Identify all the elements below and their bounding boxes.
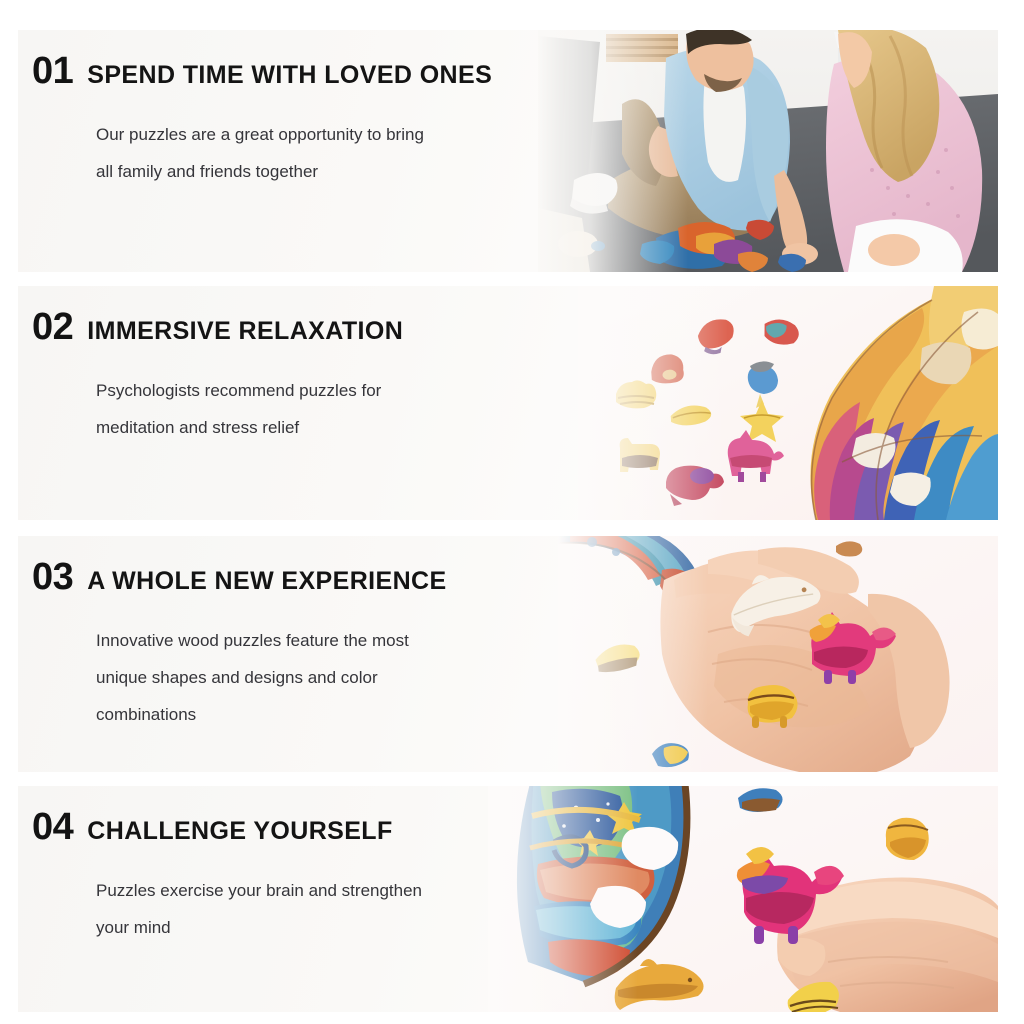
feature-text-01: 01 SPEND TIME WITH LOVED ONES Our puzzle… [18, 30, 592, 190]
feature-heading-row-02: 02 IMMERSIVE RELAXATION [32, 308, 592, 346]
feature-body-line: Psychologists recommend puzzles for [96, 372, 526, 409]
feature-body-line: Our puzzles are a great opportunity to b… [96, 116, 526, 153]
scattered-puzzle-pieces-photo [578, 286, 998, 520]
feature-text-03: 03 A WHOLE NEW EXPERIENCE Innovative woo… [18, 536, 592, 733]
feature-text-04: 04 CHALLENGE YOURSELF Puzzles exercise y… [18, 786, 592, 946]
feature-body-line: unique shapes and designs and color [96, 659, 526, 696]
feature-body-line: Puzzles exercise your brain and strength… [96, 872, 526, 909]
feature-heading-row-03: 03 A WHOLE NEW EXPERIENCE [32, 558, 592, 596]
feature-text-02: 02 IMMERSIVE RELAXATION Psychologists re… [18, 286, 592, 446]
feature-image-03 [558, 536, 998, 772]
feature-panel-02: 02 IMMERSIVE RELAXATION Psychologists re… [18, 286, 998, 520]
feature-heading-row-01: 01 SPEND TIME WITH LOVED ONES [32, 52, 592, 90]
feature-title-01: SPEND TIME WITH LOVED ONES [87, 63, 492, 88]
feature-image-01 [538, 30, 998, 272]
feature-image-02 [578, 286, 998, 520]
feature-panel-04: 04 CHALLENGE YOURSELF Puzzles exercise y… [18, 786, 998, 1012]
feature-number-01: 01 [32, 52, 73, 90]
hand-holding-pieces-photo [558, 536, 998, 772]
feature-body-line: all family and friends together [96, 153, 526, 190]
feature-title-03: A WHOLE NEW EXPERIENCE [87, 569, 446, 594]
feature-heading-row-04: 04 CHALLENGE YOURSELF [32, 808, 592, 846]
feature-body-01: Our puzzles are a great opportunity to b… [96, 116, 526, 190]
promo-feature-list: 01 SPEND TIME WITH LOVED ONES Our puzzle… [0, 0, 1024, 1024]
feature-body-04: Puzzles exercise your brain and strength… [96, 872, 526, 946]
feature-body-line: your mind [96, 909, 526, 946]
feature-title-02: IMMERSIVE RELAXATION [87, 319, 403, 344]
feature-body-line: combinations [96, 696, 526, 733]
family-puzzle-photo [538, 30, 998, 272]
feature-number-03: 03 [32, 558, 73, 596]
feature-panel-01: 01 SPEND TIME WITH LOVED ONES Our puzzle… [18, 30, 998, 272]
feature-body-line: meditation and stress relief [96, 409, 526, 446]
feature-number-02: 02 [32, 308, 73, 346]
feature-title-04: CHALLENGE YOURSELF [87, 819, 392, 844]
feature-body-02: Psychologists recommend puzzles for medi… [96, 372, 526, 446]
feature-body-line: Innovative wood puzzles feature the most [96, 622, 526, 659]
feature-panel-03: 03 A WHOLE NEW EXPERIENCE Innovative woo… [18, 536, 998, 772]
feature-body-03: Innovative wood puzzles feature the most… [96, 622, 526, 733]
feature-number-04: 04 [32, 808, 73, 846]
